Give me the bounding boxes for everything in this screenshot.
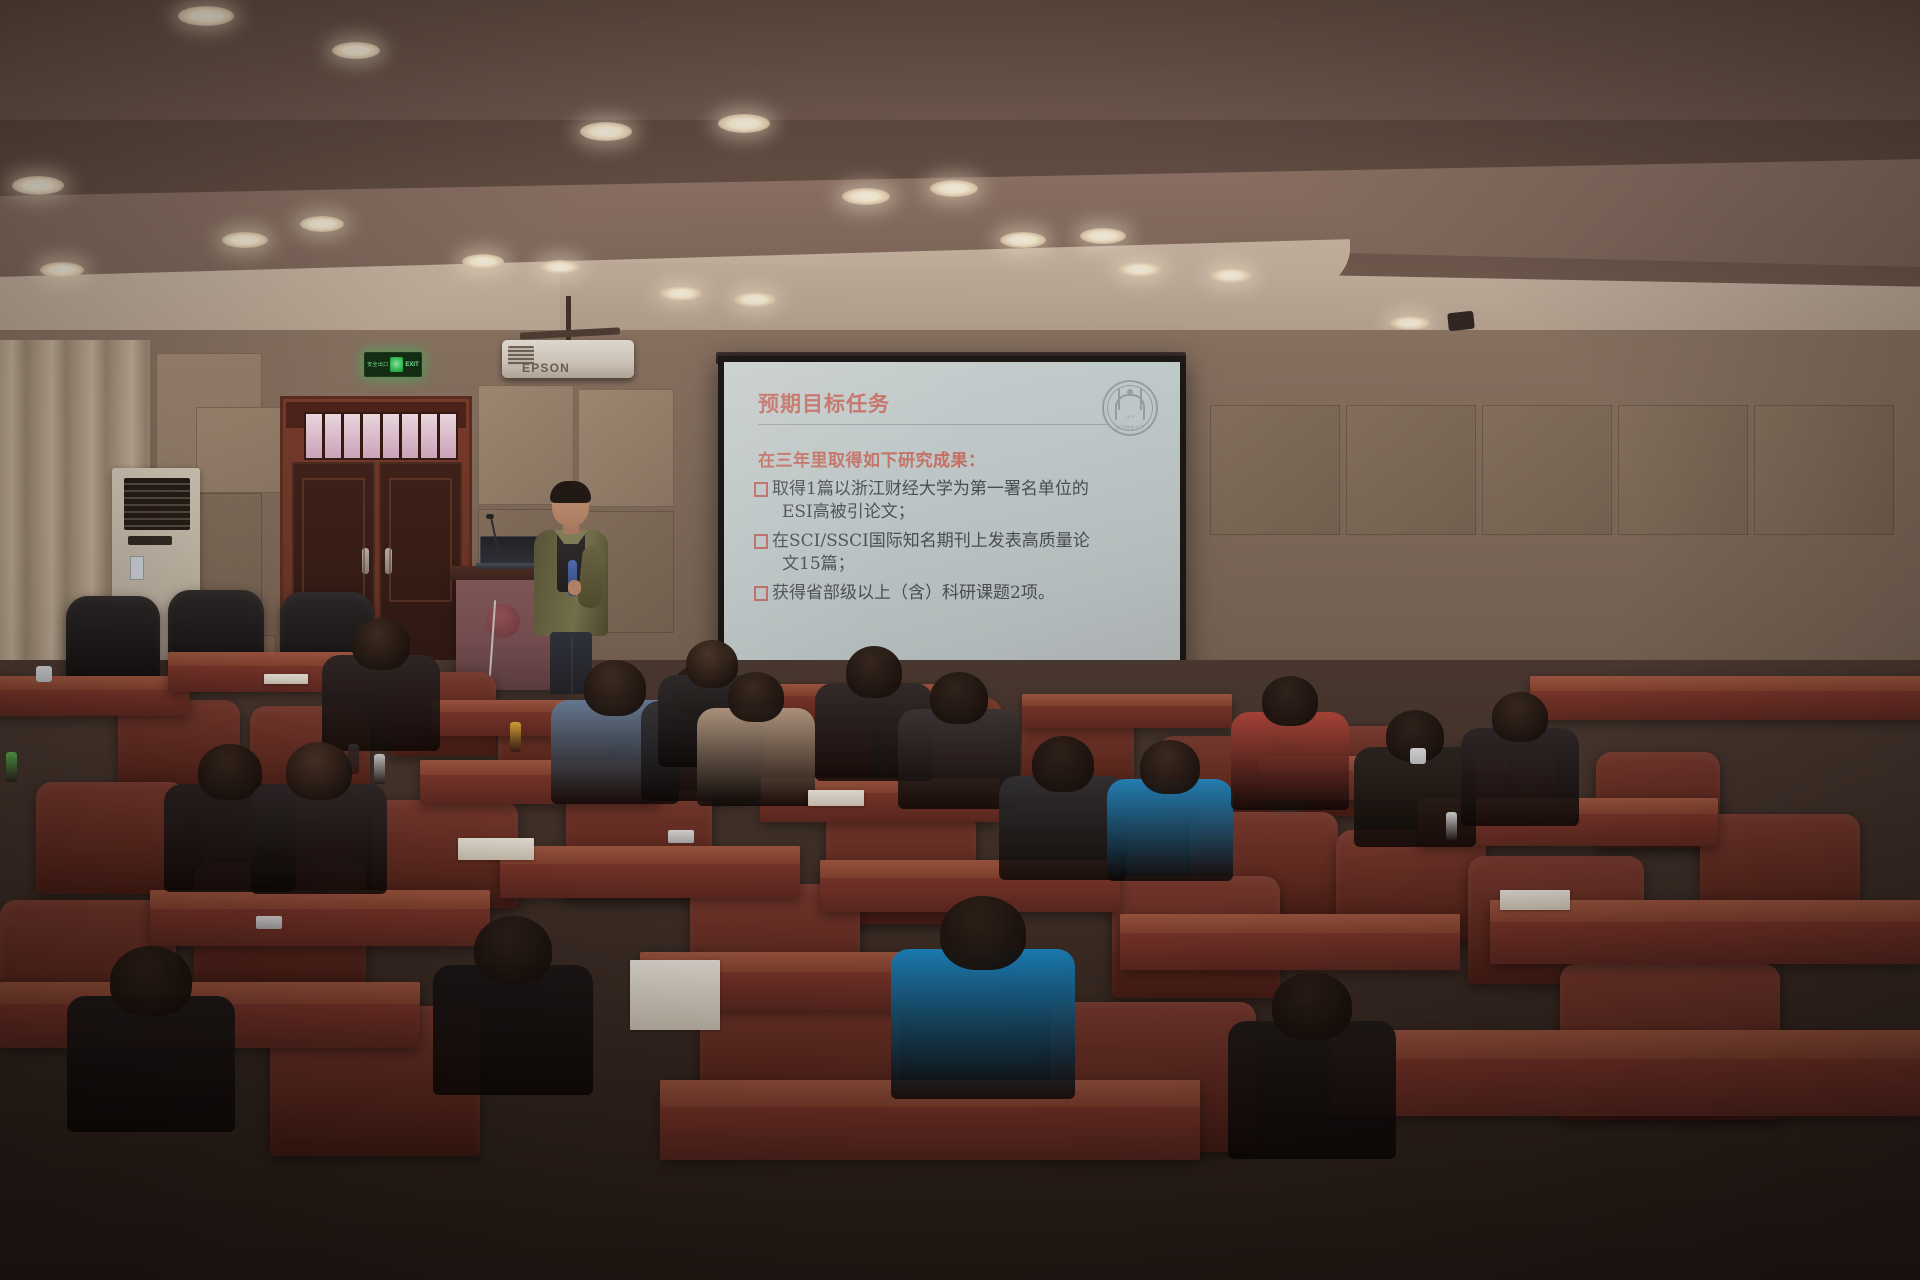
projection-screen-frame: 预期目标任务 在三年里取得如下研究成果： 取得1篇以浙江财经大学为第一署名单位的… xyxy=(718,356,1186,708)
presenter-hair xyxy=(550,481,591,503)
water-bottle xyxy=(374,754,385,784)
slide-bullet-item: 在SCI/SSCI国际知名期刊上发表高质量论文15篇； xyxy=(752,530,1160,577)
wall-panel xyxy=(196,407,282,493)
wall-panel xyxy=(1754,405,1894,535)
audience-member-torso xyxy=(697,708,815,806)
audience-member-torso xyxy=(251,784,387,894)
bullet-line: 取得1篇以浙江财经大学为第一署名单位的 xyxy=(772,479,1089,499)
projector-brand-label: EPSON xyxy=(522,361,570,375)
seal-year: 1974 xyxy=(1126,414,1135,419)
ceiling-downlight xyxy=(842,188,890,205)
ceiling-soffit xyxy=(0,0,1920,120)
air-conditioner-display xyxy=(128,536,172,545)
bullet-line-continued: ESI高被引论文； xyxy=(772,501,1160,524)
seal-caption: 浙江财经大学 xyxy=(1115,425,1144,431)
paper-document xyxy=(458,838,534,860)
mobile-phone xyxy=(256,916,282,929)
water-bottle xyxy=(348,744,359,774)
door-handle-right[interactable] xyxy=(385,548,392,574)
gooseneck-microphone-head xyxy=(486,514,494,519)
running-person-icon xyxy=(390,357,403,372)
desk-top-surface xyxy=(1120,914,1460,933)
exit-sign-label-en: EXIT xyxy=(405,362,418,368)
paper-document xyxy=(1500,890,1570,910)
audience-member-torso xyxy=(67,996,235,1132)
audience-member-head xyxy=(110,946,192,1016)
slide-title-divider xyxy=(758,424,1108,425)
audience-member-head xyxy=(352,618,410,670)
audience-member-head xyxy=(584,660,646,716)
cup xyxy=(36,666,52,682)
ceiling-downlight xyxy=(1390,316,1430,330)
ceiling-downlight xyxy=(734,292,776,307)
ceiling-downlight xyxy=(300,216,344,232)
seal-leg-right-icon xyxy=(1140,388,1142,410)
audience-member-torso xyxy=(1231,712,1349,810)
audience-member-head xyxy=(1492,692,1548,742)
ceiling-downlight xyxy=(462,254,504,269)
audience-member-head xyxy=(198,744,262,800)
audience-member-torso xyxy=(891,949,1075,1099)
ceiling-downlight xyxy=(222,232,268,248)
seal-leg-left-icon xyxy=(1118,388,1120,410)
mobile-phone xyxy=(668,830,694,843)
wall-panel xyxy=(1210,405,1340,535)
ceiling-downlight xyxy=(332,42,380,59)
presenter-glasses-icon xyxy=(556,501,585,509)
seal-knob-icon xyxy=(1127,389,1133,395)
ceiling-downlight xyxy=(1118,262,1162,277)
desk-top-surface xyxy=(0,676,190,690)
audience-member-head xyxy=(728,672,784,722)
bullet-line: 在SCI/SSCI国际知名期刊上发表高质量论 xyxy=(772,531,1090,551)
audience-member-torso xyxy=(1228,1021,1396,1159)
audience-member-torso xyxy=(433,965,593,1095)
ceiling-downlight xyxy=(718,114,770,133)
lecture-hall-photo: 安全出口 EXIT EPSON 预期目标任务 在三年里取得如下研究成果： 取得1… xyxy=(0,0,1920,1280)
audience-member-head xyxy=(474,916,552,984)
audience-member-head xyxy=(1140,740,1200,794)
ceiling-downlight xyxy=(1000,232,1046,248)
ceiling-downlight xyxy=(1080,228,1126,244)
projected-slide: 预期目标任务 在三年里取得如下研究成果： 取得1篇以浙江财经大学为第一署名单位的… xyxy=(724,362,1180,702)
water-bottle xyxy=(1446,812,1457,842)
ceiling-downlight xyxy=(40,262,84,278)
wall-panel xyxy=(1346,405,1476,535)
audience-member-torso xyxy=(1107,779,1233,881)
ceiling-downlight xyxy=(930,180,978,197)
wall-panel xyxy=(1618,405,1748,535)
wall-panel xyxy=(1482,405,1612,535)
water-bottle xyxy=(510,722,521,752)
desk-top-surface xyxy=(1530,676,1920,691)
bullet-square-icon xyxy=(754,482,768,497)
slide-bullet-list: 取得1篇以浙江财经大学为第一署名单位的ESI高被引论文；在SCI/SSCI国际知… xyxy=(752,478,1160,610)
emergency-exit-sign: 安全出口 EXIT xyxy=(364,352,422,377)
audience-member-head xyxy=(940,896,1026,970)
desk-top-surface xyxy=(1022,694,1232,706)
bullet-line: 获得省部级以上（含）科研课题2项。 xyxy=(772,583,1055,603)
air-conditioner-tag xyxy=(130,556,144,580)
paper-document xyxy=(808,790,864,806)
slide-lead-text: 在三年里取得如下研究成果： xyxy=(758,446,986,471)
audience-member-head xyxy=(1272,972,1352,1040)
paper-document xyxy=(264,674,308,684)
slide-bullet-item: 获得省部级以上（含）科研课题2项。 xyxy=(752,582,1160,605)
audience-member-head xyxy=(930,672,988,724)
ceiling-downlight xyxy=(540,260,580,274)
exit-sign-label-cn: 安全出口 xyxy=(367,361,388,368)
ceiling-downlight xyxy=(178,6,234,26)
desk-top-surface xyxy=(500,846,800,864)
slide-title: 预期目标任务 xyxy=(758,388,890,418)
audience-member-head xyxy=(1032,736,1094,792)
audience-chair xyxy=(66,596,160,686)
desk-top-surface xyxy=(1330,1030,1920,1059)
cup xyxy=(1410,748,1426,764)
bullet-line-continued: 文15篇； xyxy=(772,553,1160,576)
bullet-square-icon xyxy=(754,586,768,601)
paper-document xyxy=(630,960,720,1030)
audience-member-torso xyxy=(1461,728,1579,826)
water-bottle xyxy=(6,752,17,782)
ceiling-downlight xyxy=(580,122,632,141)
ceiling-downlight xyxy=(660,286,702,301)
wall-speaker xyxy=(1447,311,1475,332)
ceiling-downlight xyxy=(1210,268,1252,283)
slide-bullet-item: 取得1篇以浙江财经大学为第一署名单位的ESI高被引论文； xyxy=(752,478,1160,525)
door-handle-left[interactable] xyxy=(362,548,369,574)
audience-member-head xyxy=(846,646,902,698)
university-seal-logo: 1974 浙江财经大学 xyxy=(1102,380,1158,436)
bullet-square-icon xyxy=(754,534,768,549)
presenter-hand xyxy=(568,580,581,595)
door-transom-glass xyxy=(304,412,458,460)
audience-member-head xyxy=(686,640,738,688)
audience-member-head xyxy=(1262,676,1318,726)
ceiling-downlight xyxy=(12,176,64,195)
audience-member-head xyxy=(286,742,352,800)
air-conditioner-grille-icon xyxy=(124,478,190,530)
